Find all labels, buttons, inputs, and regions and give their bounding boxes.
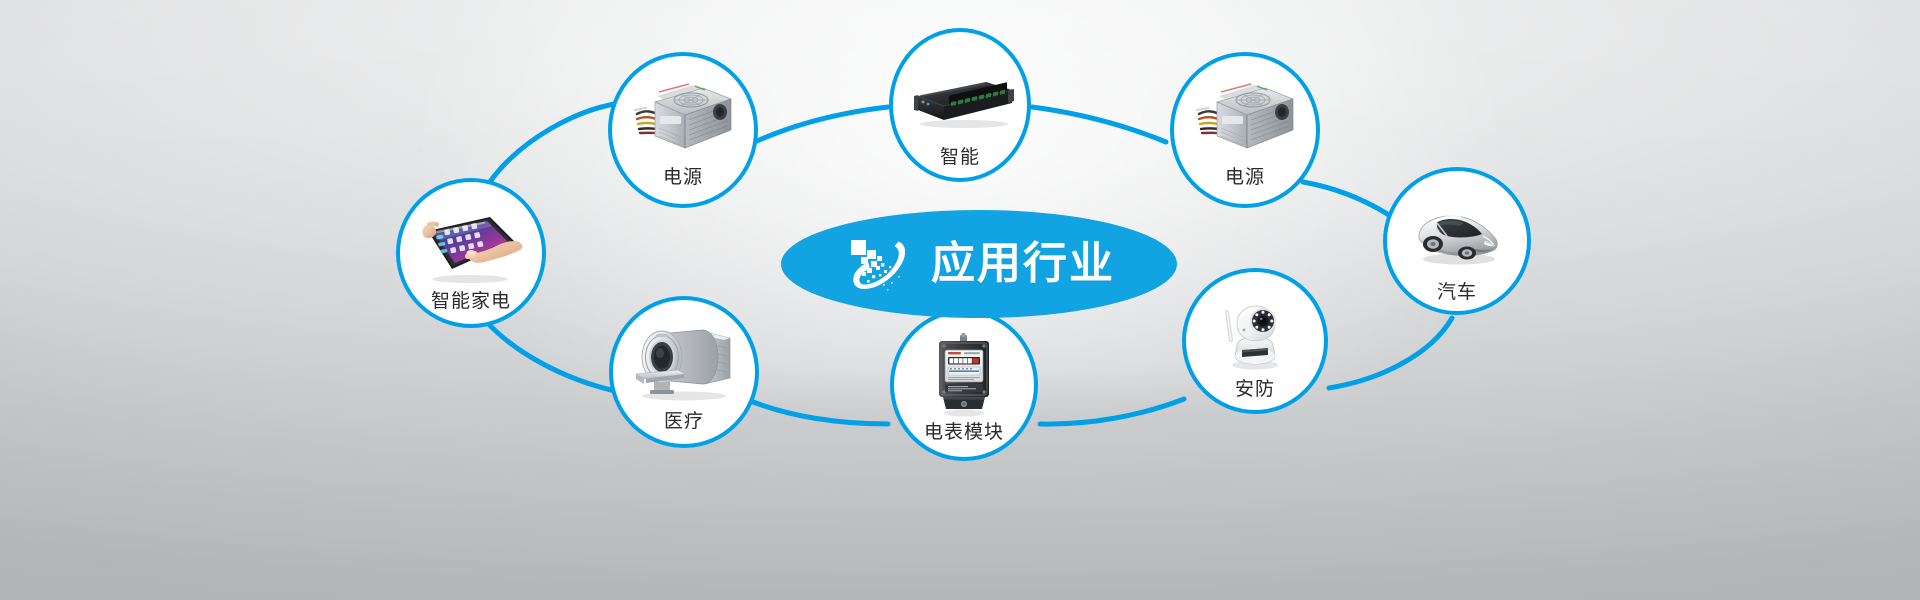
node-label: 安防 bbox=[1235, 380, 1275, 399]
ct-scanner-icon bbox=[613, 324, 755, 404]
node-label: 汽车 bbox=[1437, 283, 1477, 302]
node-smart-home[interactable]: 智能家电 bbox=[396, 178, 546, 328]
application-industries-diagram: 电源 bbox=[0, 0, 1920, 600]
node-medical[interactable]: 医疗 bbox=[609, 296, 759, 448]
rack-server-icon bbox=[893, 68, 1027, 138]
node-power-right[interactable]: 电源 bbox=[1170, 52, 1320, 208]
link-smart-to-power-right bbox=[1032, 107, 1166, 142]
node-label: 智能家电 bbox=[431, 292, 511, 311]
node-smart[interactable]: 智能 bbox=[889, 28, 1031, 182]
center-badge[interactable]: 应用行业 bbox=[781, 210, 1177, 318]
node-label: 电源 bbox=[663, 168, 703, 187]
node-security[interactable]: 安防 bbox=[1182, 268, 1328, 414]
atx-power-supply-icon bbox=[1174, 78, 1316, 160]
node-automotive[interactable]: 汽车 bbox=[1383, 167, 1531, 315]
center-title: 应用行业 bbox=[931, 242, 1115, 286]
atx-power-supply-icon bbox=[612, 78, 754, 160]
tablet-touch-icon bbox=[400, 206, 542, 286]
electric-meter-icon bbox=[894, 333, 1034, 417]
node-label: 医疗 bbox=[664, 412, 704, 431]
node-power-left[interactable]: 电源 bbox=[608, 52, 758, 208]
node-label: 智能 bbox=[940, 148, 980, 167]
link-medical-to-smart-home bbox=[478, 312, 620, 392]
ip-camera-icon bbox=[1186, 294, 1324, 372]
link-security-to-meter-module bbox=[1040, 399, 1184, 424]
link-power-left-to-smart bbox=[757, 107, 888, 141]
link-smart-home-to-power-left bbox=[489, 103, 620, 183]
sports-car-icon bbox=[1387, 197, 1527, 271]
link-automotive-to-security bbox=[1329, 318, 1452, 388]
node-label: 电表模块 bbox=[924, 423, 1004, 442]
node-label: 电源 bbox=[1225, 168, 1265, 187]
link-meter-module-to-medical bbox=[748, 400, 888, 424]
node-meter-module[interactable]: 电表模块 bbox=[890, 309, 1038, 461]
pixel-orbit-swoosh-logo bbox=[843, 228, 915, 300]
